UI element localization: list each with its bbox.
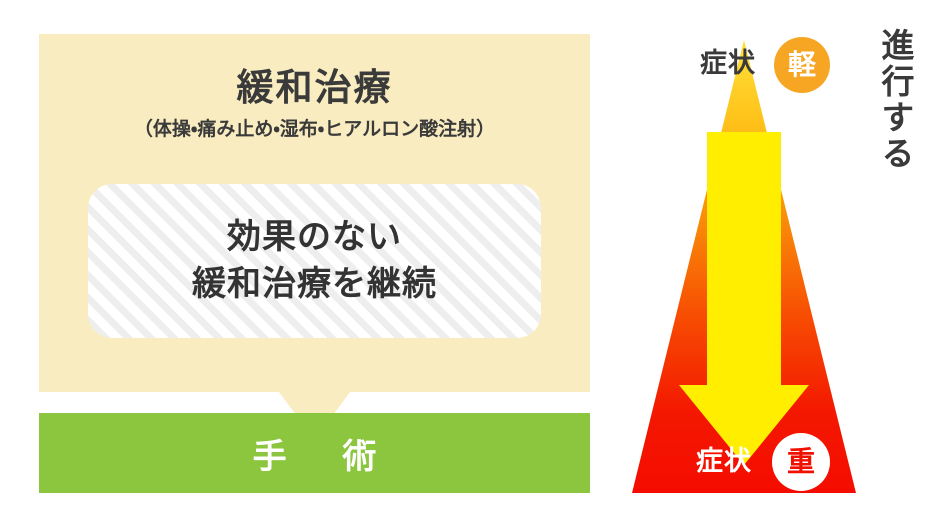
- progression-label: 進行する: [860, 28, 912, 172]
- surgery-bar: 手 術: [39, 413, 590, 493]
- ineffective-treatment-text: 効果のない 緩和治療を継続: [192, 214, 437, 308]
- palliative-treatment-title: 緩和治療: [39, 68, 590, 109]
- progression-arrow: [632, 40, 856, 493]
- ineffective-treatment-line-2: 緩和治療を継続: [192, 261, 437, 308]
- symptom-label-mild: 症状: [700, 50, 756, 77]
- ineffective-treatment-box: 効果のない 緩和治療を継続: [88, 184, 541, 338]
- ineffective-treatment-line-1: 効果のない: [192, 214, 437, 261]
- surgery-label: 手 術: [39, 413, 590, 493]
- palliative-treatment-subtitle: （体操・痛み止め・湿布・ヒアルロン酸注射）: [39, 118, 590, 141]
- symptom-label-severe: 症状: [696, 448, 752, 475]
- progression-arrow-shape: [679, 132, 809, 465]
- severity-badge-severe: 重: [772, 433, 830, 491]
- diagram-canvas: 緩和治療 （体操・痛み止め・湿布・ヒアルロン酸注射） 効果のない 緩和治療を継続…: [0, 0, 940, 531]
- severity-badge-mild: 軽: [774, 37, 830, 93]
- conservative-treatment-panel: 緩和治療 （体操・痛み止め・湿布・ヒアルロン酸注射） 効果のない 緩和治療を継続…: [39, 34, 590, 493]
- severity-progression-panel: 症状 軽 症状 重 進行する: [612, 0, 940, 531]
